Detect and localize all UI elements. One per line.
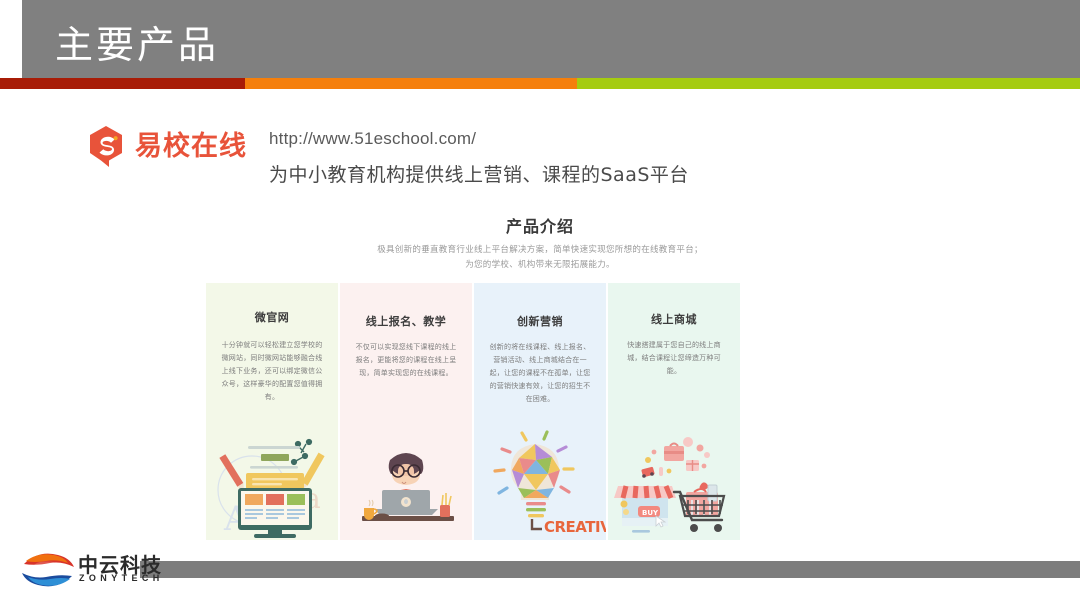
footer-company-subname: ZONYTECH (79, 573, 164, 583)
brand-row: 易校在线 http://www.51eschool.com/ 为中小教育机构提供… (84, 124, 689, 187)
svg-text:BUY: BUY (642, 509, 659, 517)
card-body: 不仅可以实现您线下课程的线上报名，更能将您的课程在线上呈现，简单实现您的在线课程… (353, 341, 459, 380)
card-body: 快速搭建属于您自己的线上商城，结合课程让您缔造万种可能。 (621, 339, 727, 378)
product-card[interactable]: 创新营销 创新的将在线课程、线上报名、营销活动、线上商城结合在一起，让您的课程不… (474, 283, 606, 540)
brand-text-block: http://www.51eschool.com/ 为中小教育机构提供线上营销、… (269, 124, 689, 187)
product-card[interactable]: 线上商城 快速搭建属于您自己的线上商城，结合课程让您缔造万种可能。 (608, 283, 740, 540)
card-title: 线上商城 (608, 311, 740, 327)
section-subtitle-line1: 极具创新的垂直教育行业线上平台解决方案，简单快速实现您所想的在线教育平台； (0, 243, 1080, 258)
product-card[interactable]: 线上报名、教学 不仅可以实现您线下课程的线上报名，更能将您的课程在线上呈现，简单… (340, 283, 472, 540)
card-title: 微官网 (206, 309, 338, 325)
page-header: 主要产品 (22, 0, 1080, 78)
website-design-illustration-icon: A a (206, 430, 338, 540)
page-title: 主要产品 (55, 14, 219, 69)
card-title: 创新营销 (474, 313, 606, 329)
accent-bar-orange (245, 78, 577, 89)
person-laptop-illustration-icon (340, 430, 472, 540)
section-subtitle-line2: 为您的学校、机构带来无限拓展能力。 (0, 258, 1080, 273)
card-body: 十分钟就可以轻松建立您学校的微网站，同时微网站能够融合线上线下业务，还可以绑定微… (219, 339, 325, 404)
accent-bar-red (0, 78, 245, 89)
section-title: 产品介绍 (0, 213, 1080, 237)
zonytech-swoosh-logo-icon (18, 548, 78, 592)
yixiao-hexagon-logo-icon (84, 124, 130, 170)
card-title: 线上报名、教学 (340, 313, 472, 329)
product-card-list: 微官网 十分钟就可以轻松建立您学校的微网站，同时微网站能够融合线上线下业务，还可… (206, 283, 742, 540)
creative-lightbulb-illustration-icon: CREATIVE (474, 430, 606, 540)
footer-bar (140, 561, 1080, 578)
section-subtitle: 极具创新的垂直教育行业线上平台解决方案，简单快速实现您所想的在线教育平台； 为您… (0, 243, 1080, 273)
brand-url[interactable]: http://www.51eschool.com/ (269, 129, 689, 149)
accent-bar-green (577, 78, 1080, 89)
accent-color-bar (0, 78, 1080, 89)
card-body: 创新的将在线课程、线上报名、营销活动、线上商城结合在一起，让您的课程不在孤单，让… (487, 341, 593, 406)
svg-text:CREATIVE: CREATIVE (544, 518, 606, 536)
product-card[interactable]: 微官网 十分钟就可以轻松建立您学校的微网站，同时微网站能够融合线上线下业务，还可… (206, 283, 338, 540)
brand-name: 易校在线 (135, 124, 247, 170)
online-shop-cart-illustration-icon: BUY (608, 430, 740, 540)
brand-tagline: 为中小教育机构提供线上营销、课程的SaaS平台 (269, 160, 689, 187)
